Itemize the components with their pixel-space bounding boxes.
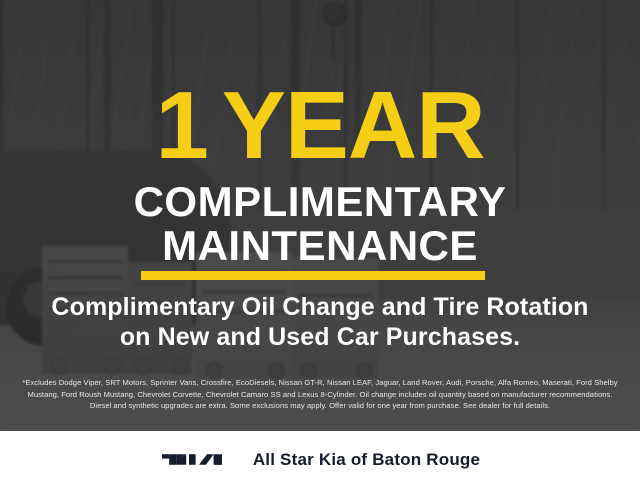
- headline-maintenance: MAINTENANCE: [0, 225, 640, 267]
- footer-brand-lockup[interactable]: All Star Kia of Baton Rouge: [160, 449, 480, 470]
- subheadline-line-1: Complimentary Oil Change and Tire Rotati…: [51, 293, 588, 321]
- footer-bar: All Star Kia of Baton Rouge: [0, 431, 640, 488]
- headline-year-number: 1: [155, 72, 207, 179]
- subheadline-line-2: on New and Used Car Purchases.: [0, 322, 640, 352]
- kia-logo: [160, 449, 234, 470]
- headline-year-word: YEAR: [222, 72, 485, 179]
- disclaimer-line-2: Mustang, Ford Roush Mustang, Chevrolet C…: [14, 389, 626, 401]
- advertisement-banner: 1YEAR COMPLIMENTARY MAINTENANCE Complime…: [0, 0, 640, 488]
- disclaimer-text: *Excludes Dodge Viper, SRT Motors, Sprin…: [14, 377, 626, 412]
- headline-year: 1YEAR: [0, 78, 640, 174]
- ad-content: 1YEAR COMPLIMENTARY MAINTENANCE Complime…: [0, 0, 640, 431]
- subheadline: Complimentary Oil Change and Tire Rotati…: [0, 292, 640, 352]
- disclaimer-line-3: Diesel and synthetic upgrades are extra.…: [14, 400, 626, 412]
- disclaimer-line-1: *Excludes Dodge Viper, SRT Motors, Sprin…: [14, 377, 626, 389]
- dealer-name: All Star Kia of Baton Rouge: [253, 450, 480, 470]
- yellow-divider: [141, 271, 485, 280]
- headline-complimentary: COMPLIMENTARY: [0, 181, 640, 223]
